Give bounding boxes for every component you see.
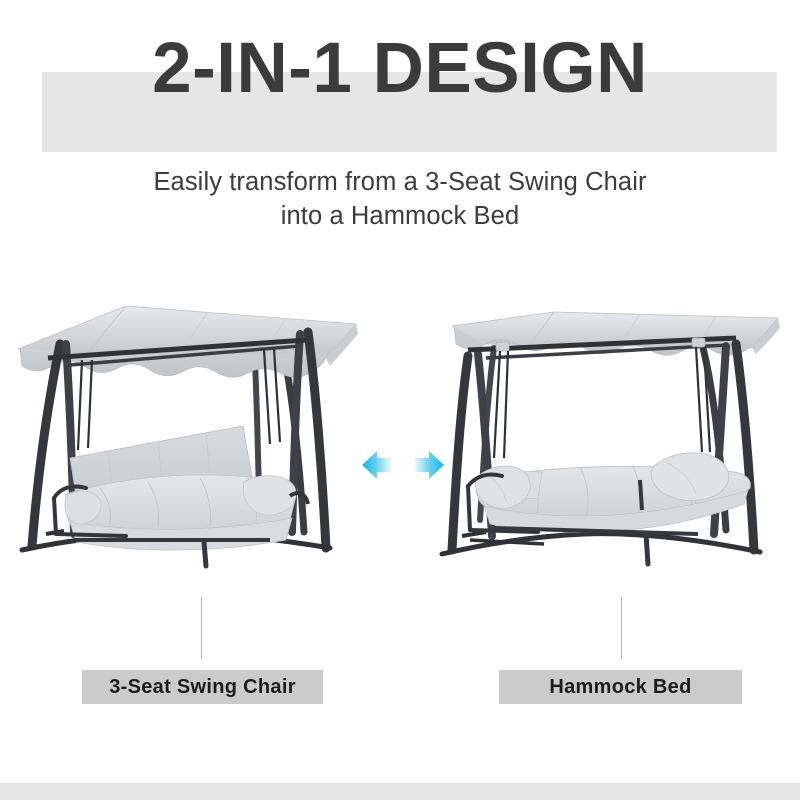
footer-accent-band xyxy=(0,783,800,800)
arrow-right-icon xyxy=(414,451,444,479)
page-subtitle: Easily transform from a 3-Seat Swing Cha… xyxy=(70,166,730,233)
connector-line-left xyxy=(201,597,202,659)
infographic-page: 2-IN-1 DESIGN Easily transform from a 3-… xyxy=(0,0,800,800)
subtitle-line-1: Easily transform from a 3-Seat Swing Cha… xyxy=(70,166,730,200)
arrow-left-icon xyxy=(362,451,392,479)
page-title: 2-IN-1 DESIGN xyxy=(0,33,800,104)
subtitle-line-2: into a Hammock Bed xyxy=(70,200,730,234)
product-comparison-stage xyxy=(0,282,800,582)
connector-line-right xyxy=(621,597,622,659)
caption-hammock-bed-label: Hammock Bed xyxy=(549,676,691,699)
caption-swing-chair-label: 3-Seat Swing Chair xyxy=(109,676,296,699)
product-image-swing-chair xyxy=(8,282,368,582)
transform-arrows xyxy=(358,440,448,490)
caption-hammock-bed: Hammock Bed xyxy=(499,670,742,704)
product-image-hammock-bed xyxy=(434,282,794,582)
caption-swing-chair: 3-Seat Swing Chair xyxy=(82,670,323,704)
